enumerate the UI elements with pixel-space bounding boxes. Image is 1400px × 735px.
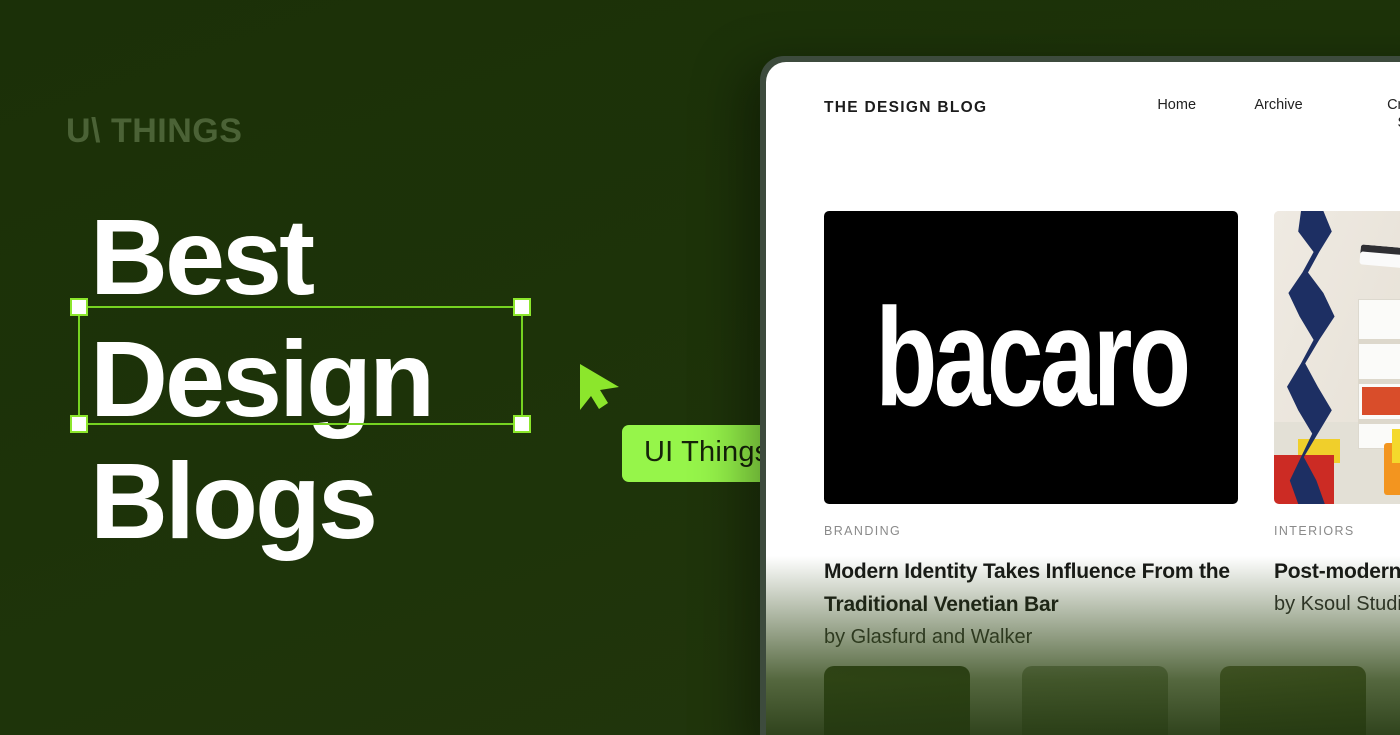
- article-author: by Glasfurd and Walker: [824, 626, 1238, 649]
- nav-link-home[interactable]: Home: [1157, 96, 1196, 114]
- nav-group-home: Home: [1157, 96, 1254, 132]
- article-cover-image[interactable]: bacaro: [824, 211, 1238, 504]
- photo-yellow-cushion: [1392, 429, 1400, 463]
- photo-shelf-line: [1358, 339, 1400, 344]
- selection-handle-bottom-left[interactable]: [70, 415, 88, 433]
- cursor-arrow-icon: [578, 362, 622, 412]
- site-header: THE DESIGN BLOG Home Archive Creatives S…: [766, 62, 1400, 132]
- selection-handle-top-right[interactable]: [513, 298, 531, 316]
- photo-shelf: [1358, 299, 1400, 449]
- promo-stage: U\ THINGS Best Design Blogs UI Things TH…: [0, 0, 1400, 735]
- brand-logo: U\ THINGS: [66, 112, 242, 151]
- nav-group-creatives: Creatives Support: [1351, 96, 1400, 132]
- headline-line-3: Blogs: [90, 440, 432, 562]
- thumbnail-item[interactable]: [824, 666, 970, 735]
- page-title: Best Design Blogs: [90, 196, 432, 562]
- article-meta: BRANDING Modern Identity Takes Influence…: [824, 504, 1238, 649]
- article-card[interactable]: INTERIORS Post-modernism Colors & Shapes…: [1274, 211, 1400, 649]
- article-cover-image[interactable]: [1274, 211, 1400, 504]
- article-meta: INTERIORS Post-modernism Colors & Shapes…: [1274, 504, 1400, 616]
- nav-group-archive: Archive: [1254, 96, 1351, 132]
- bacaro-wordmark: bacaro: [875, 288, 1187, 427]
- photo-books: [1362, 387, 1400, 415]
- browser-window: THE DESIGN BLOG Home Archive Creatives S…: [760, 56, 1400, 735]
- headline-line-1: Best: [90, 196, 432, 318]
- article-card-list: bacaro BRANDING Modern Identity Takes In…: [766, 132, 1400, 649]
- thumbnail-item[interactable]: [1220, 666, 1366, 735]
- device-frame: THE DESIGN BLOG Home Archive Creatives S…: [760, 56, 1400, 735]
- site-title: THE DESIGN BLOG: [824, 96, 987, 117]
- headline-line-2: Design: [90, 318, 432, 440]
- selection-handle-bottom-right[interactable]: [513, 415, 531, 433]
- thumbnail-strip: [824, 666, 1400, 735]
- article-title[interactable]: Post-modernism Colors & Shapes: [1274, 555, 1400, 588]
- article-card[interactable]: bacaro BRANDING Modern Identity Takes In…: [824, 211, 1238, 649]
- nav-link-creatives[interactable]: Creatives: [1387, 96, 1400, 114]
- article-category[interactable]: BRANDING: [824, 524, 1238, 538]
- device-screen: THE DESIGN BLOG Home Archive Creatives S…: [766, 62, 1400, 735]
- article-author: by Ksoul Studio: [1274, 593, 1400, 616]
- nav-link-archive[interactable]: Archive: [1254, 96, 1302, 114]
- photo-shelf-line: [1358, 419, 1400, 424]
- article-category[interactable]: INTERIORS: [1274, 524, 1400, 538]
- selection-handle-top-left[interactable]: [70, 298, 88, 316]
- site-nav: Home Archive Creatives Support Resources…: [1157, 96, 1400, 132]
- thumbnail-item[interactable]: [1022, 666, 1168, 735]
- photo-shelf-line: [1358, 379, 1400, 384]
- article-title[interactable]: Modern Identity Takes Influence From the…: [824, 555, 1238, 621]
